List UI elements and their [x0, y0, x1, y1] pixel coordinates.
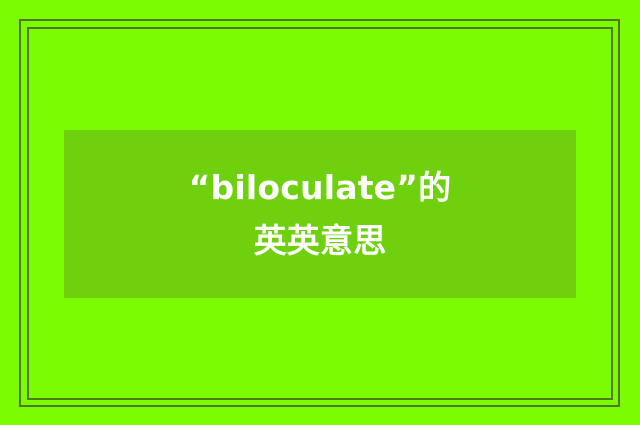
- poster-canvas: “biloculate”的英英意思: [0, 0, 640, 425]
- banner-panel: “biloculate”的英英意思: [64, 130, 576, 298]
- banner-title: “biloculate”的英英意思: [185, 161, 455, 268]
